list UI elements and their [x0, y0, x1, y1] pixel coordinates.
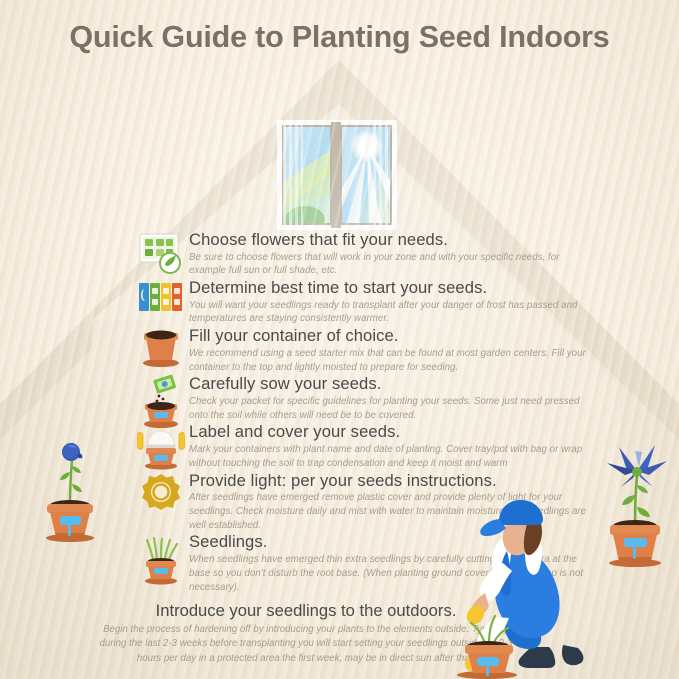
infographic-poster: Quick Guide to Planting Seed Indoors Cho… [0, 0, 679, 679]
step-heading: Label and cover your seeds. [189, 423, 589, 442]
step-description: Be sure to choose flowers that will work… [189, 250, 589, 279]
step-description: Check your packet for specific guideline… [189, 394, 589, 423]
list-item: Fill your container of choice. We recomm… [137, 327, 589, 374]
seedling-pot-icon [137, 533, 185, 585]
step-description: Mark your containers with plant name and… [189, 442, 589, 471]
gardener-illustration [455, 497, 645, 679]
covered-pot-gloves-icon [137, 423, 185, 471]
footer-heading: Introduce your seedlings to the outdoors… [96, 602, 516, 621]
step-heading: Provide light: per your seeds instructio… [189, 472, 589, 491]
window-with-sunlight-icon [277, 120, 397, 230]
sowing-seeds-icon [137, 375, 185, 429]
potted-blue-flower-left [34, 422, 106, 542]
footer-description: Begin the process of hardening off by in… [96, 621, 516, 667]
page-title: Quick Guide to Planting Seed Indoors [0, 20, 679, 55]
sun-light-icon [137, 472, 185, 512]
filled-pot-icon [137, 327, 185, 369]
step-description: You will want your seedlings ready to tr… [189, 298, 589, 327]
step-heading: Choose flowers that fit your needs. [189, 231, 589, 250]
step-description: We recommend using a seed starter mix th… [189, 346, 589, 375]
list-item: Choose flowers that fit your needs. Be s… [137, 231, 589, 278]
seed-packets-icon [137, 279, 185, 319]
step-heading: Carefully sow your seeds. [189, 375, 589, 394]
step-heading: Fill your container of choice. [189, 327, 589, 346]
list-item: Carefully sow your seeds. Check your pac… [137, 375, 589, 422]
step-heading: Determine best time to start your seeds. [189, 279, 589, 298]
list-item: Label and cover your seeds. Mark your co… [137, 423, 589, 470]
footer-block: Introduce your seedlings to the outdoors… [96, 602, 516, 667]
seed-catalog-icon [137, 231, 185, 277]
list-item: Determine best time to start your seeds.… [137, 279, 589, 326]
